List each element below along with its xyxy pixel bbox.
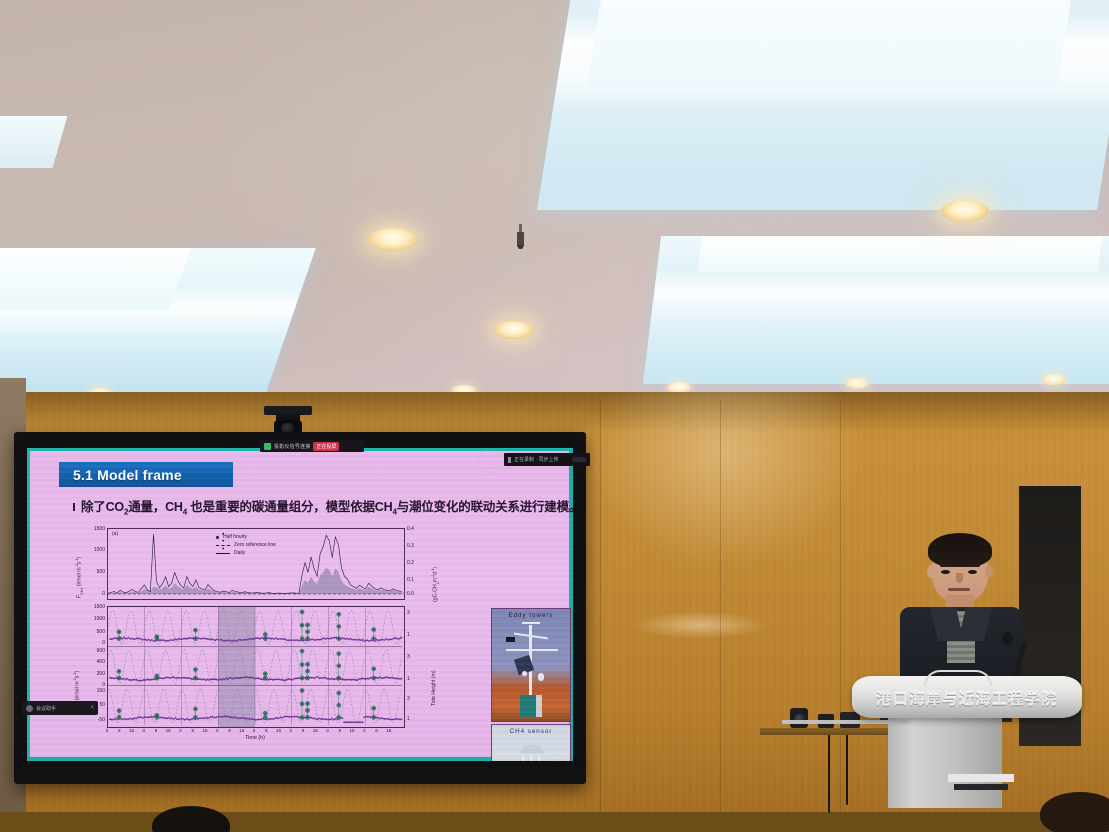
wall-top-shadow bbox=[0, 392, 1109, 432]
speaker-nose bbox=[956, 573, 963, 583]
lectern-cable-loop bbox=[924, 670, 992, 686]
slide-bullet-line: 除了CO2通量，CH4 也是重要的碳通量组分，模型依据CH4与潮位变化的联动关系… bbox=[73, 496, 563, 517]
recessed-downlight bbox=[368, 228, 418, 251]
panel-b-ytick: 1500 bbox=[81, 604, 105, 610]
panel-b-ytick: 0 bbox=[81, 640, 105, 646]
speaker-mouth bbox=[948, 588, 970, 591]
panel-b-right-ytick: 3 bbox=[407, 610, 419, 616]
assistant-label: 会议助手 bbox=[36, 705, 56, 712]
projection-status-text: 投影仪信号连接 bbox=[274, 443, 310, 450]
recessed-downlight bbox=[941, 200, 989, 222]
ch4-sensor-photo: CH4 sensor bbox=[491, 724, 571, 761]
panel-a-plot bbox=[108, 529, 402, 597]
speaker-hair bbox=[928, 533, 992, 567]
slide-title: 5.1 Model frame bbox=[73, 467, 182, 483]
assistant-icon bbox=[26, 705, 33, 712]
photo-caption: CH4 sensor bbox=[492, 728, 570, 735]
wall-panel-seam bbox=[720, 400, 721, 832]
x-tick-label: 0 bbox=[363, 728, 366, 733]
lectern: 港口海岸与近海工程学院 bbox=[852, 676, 1082, 732]
microphone-head bbox=[1002, 632, 1013, 645]
sprinkler-head bbox=[517, 224, 524, 250]
slide-canvas: 5.1 Model frame 除了CO2通量，CH4 也是重要的碳通量组分，模… bbox=[27, 448, 573, 761]
status-pill bbox=[572, 457, 586, 462]
panel-b-right-ytick: 3 bbox=[407, 654, 419, 660]
x-tick-label: 8 bbox=[375, 728, 378, 733]
meeting-assistant-widget[interactable]: 会议助手 × bbox=[22, 701, 98, 715]
lectern-label-plate bbox=[948, 774, 1014, 782]
slide-title-bar: 5.1 Model frame bbox=[59, 462, 233, 487]
conference-room-photo: 5.1 Model frame 除了CO2通量，CH4 也是重要的碳通量组分，模… bbox=[0, 0, 1109, 832]
x-tick-label: 8 bbox=[155, 728, 158, 733]
panel-b-right-ytick: 1 bbox=[407, 676, 419, 682]
panel-a-ytick: 0 bbox=[85, 591, 105, 597]
wall-light-reflection bbox=[600, 590, 800, 660]
recessed-downlight bbox=[845, 378, 869, 389]
recording-status-bar[interactable]: 正在录制 · 同步上传 bbox=[504, 453, 590, 466]
panel-b-ytick: 600 bbox=[81, 648, 105, 654]
x-tick-label: 0 bbox=[143, 728, 146, 733]
panel-b-xlabel: Time (h) bbox=[107, 735, 403, 741]
lectern-label-strip bbox=[954, 784, 1008, 790]
x-tick-label: 16 bbox=[239, 728, 244, 733]
x-tick-label: 16 bbox=[129, 728, 134, 733]
x-tick-label: 16 bbox=[202, 728, 207, 733]
x-tick-label: 8 bbox=[228, 728, 231, 733]
status-badge: 正在投屏 bbox=[313, 442, 339, 451]
panel-a-ytick: 1500 bbox=[85, 526, 105, 532]
x-tick-label: 0 bbox=[179, 728, 182, 733]
x-tick-label: 8 bbox=[192, 728, 195, 733]
light-cove-inner-lip bbox=[0, 248, 191, 310]
eddy-tower-photo: Eddy towers bbox=[491, 608, 571, 722]
panel-a-ytick: 500 bbox=[85, 569, 105, 575]
slide-body-text: 除了CO2通量，CH4 也是重要的碳通量组分，模型依据CH4与潮位变化的联动关系… bbox=[81, 496, 573, 517]
photo-caption: Eddy towers bbox=[492, 612, 570, 619]
panel-b-ytick: 1000 bbox=[81, 616, 105, 622]
speaker-eyebrow bbox=[940, 564, 954, 567]
panel-a-ylabel: FCH4 (nmol m-2s-1) bbox=[75, 557, 84, 598]
x-tick-label: 0 bbox=[106, 728, 109, 733]
chart-panel-b bbox=[107, 606, 405, 728]
panel-a-right-ytick: 0.1 bbox=[407, 577, 421, 583]
panel-b-right-ytick: 1 bbox=[407, 716, 419, 722]
x-tick-label: 8 bbox=[302, 728, 305, 733]
speaker-ear bbox=[927, 565, 935, 578]
wall-panel-seam bbox=[840, 400, 841, 832]
x-tick-label: 0 bbox=[216, 728, 219, 733]
lectern-support-bar bbox=[782, 720, 908, 724]
figure-ch4-flux: FCH4 (nmol m-2s-1) (gC-CH4m-2d-1) 1500 1… bbox=[67, 526, 437, 744]
panel-b-plot bbox=[108, 607, 402, 725]
cable bbox=[828, 735, 830, 813]
x-tick-label: 16 bbox=[349, 728, 354, 733]
lectern-base bbox=[888, 716, 1002, 808]
display-screen[interactable]: 5.1 Model frame 除了CO2通量，CH4 也是重要的碳通量组分，模… bbox=[19, 438, 581, 767]
light-cove-inner-lip bbox=[586, 0, 1075, 92]
speaker-eye bbox=[941, 570, 950, 574]
audience-head bbox=[1040, 792, 1109, 832]
panel-a-right-ytick: 0.4 bbox=[407, 526, 421, 532]
speaker-ear bbox=[985, 565, 993, 578]
light-cove-inner-lip bbox=[698, 236, 1102, 272]
x-tick-label: 0 bbox=[326, 728, 329, 733]
panel-b-right-ytick: 1 bbox=[407, 632, 419, 638]
panel-b-ytick: 500 bbox=[81, 629, 105, 635]
panel-a-right-ytick: 0.3 bbox=[407, 543, 421, 549]
signal-icon bbox=[264, 443, 271, 450]
mic-icon bbox=[508, 457, 511, 463]
presentation-display[interactable]: 5.1 Model frame 除了CO2通量，CH4 也是重要的碳通量组分，模… bbox=[14, 432, 586, 784]
panel-b-ytick: 400 bbox=[81, 659, 105, 665]
panel-b-ytick: 200 bbox=[81, 671, 105, 677]
x-tick-label: 0 bbox=[253, 728, 256, 733]
panel-b-ytick: 150 bbox=[81, 688, 105, 694]
cable bbox=[846, 735, 848, 805]
x-tick-label: 16 bbox=[166, 728, 171, 733]
x-tick-label: 16 bbox=[386, 728, 391, 733]
panel-b-ytick: -50 bbox=[81, 717, 105, 723]
close-icon[interactable]: × bbox=[90, 705, 94, 711]
x-tick-label: 0 bbox=[290, 728, 293, 733]
institution-sign-text: 港口海岸与近海工程学院 bbox=[852, 688, 1082, 709]
chart-panel-a: (a) Half hourly Zero reference line Dail… bbox=[107, 528, 405, 600]
institution-watermark-logo bbox=[478, 449, 502, 473]
speaker-eye bbox=[968, 570, 977, 574]
x-tick-label: 8 bbox=[339, 728, 342, 733]
x-tick-label: 8 bbox=[118, 728, 121, 733]
recording-status-text: 正在录制 · 同步上传 bbox=[514, 456, 558, 463]
wall-panel-seam bbox=[600, 400, 601, 832]
panel-a-right-ytick: 0.0 bbox=[407, 591, 421, 597]
panel-b-right-ytick: 3 bbox=[407, 696, 419, 702]
x-tick-label: 16 bbox=[276, 728, 281, 733]
panel-b-right-ylabel: Tide Height (m) bbox=[431, 670, 437, 706]
recessed-downlight bbox=[494, 321, 534, 339]
x-tick-label: 8 bbox=[265, 728, 268, 733]
panel-a-ytick: 1000 bbox=[85, 547, 105, 553]
x-tick-label: 16 bbox=[313, 728, 318, 733]
panel-a-right-ylabel: (gC-CH4m-2d-1) bbox=[431, 567, 440, 602]
projection-status-banner[interactable]: 投影仪信号连接 正在投屏 bbox=[260, 440, 364, 452]
panel-a-right-ytick: 0.2 bbox=[407, 560, 421, 566]
speaker-eyebrow bbox=[966, 564, 980, 567]
bullet-square-icon bbox=[73, 503, 75, 511]
recessed-downlight bbox=[1042, 374, 1066, 385]
